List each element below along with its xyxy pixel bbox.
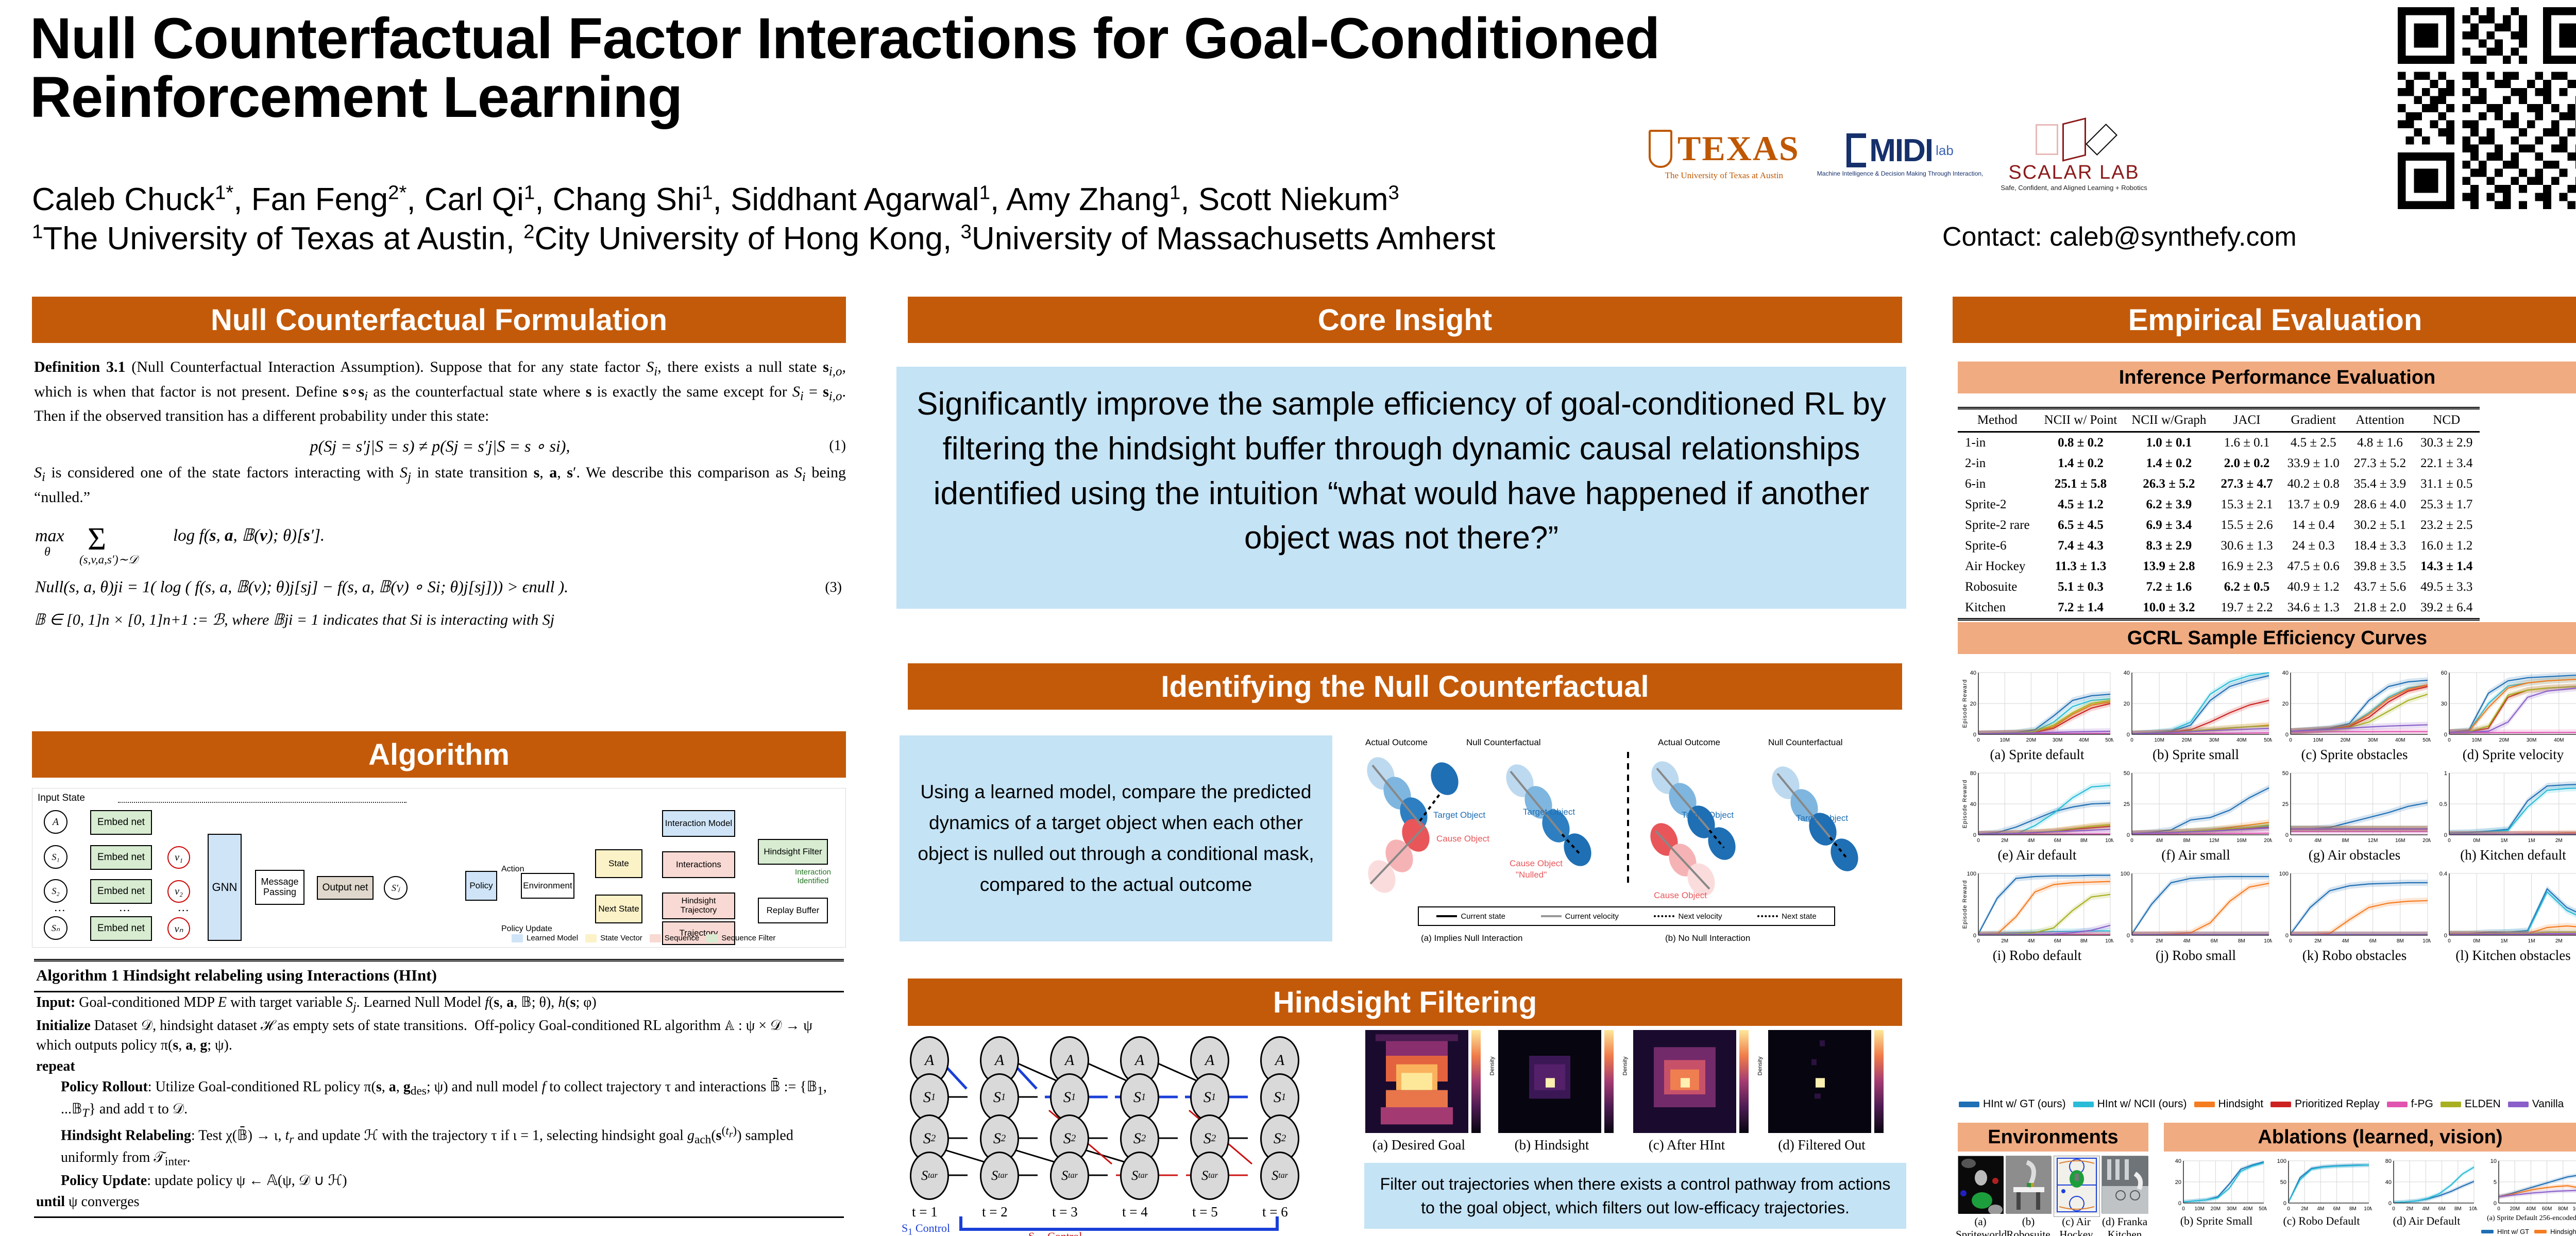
svg-text:40M: 40M [2554, 737, 2564, 743]
graph-node-Star-t2: Star [980, 1152, 1019, 1200]
thumb-franka-kitchen[interactable] [2102, 1156, 2148, 1213]
affiliation-list: 1The University of Texas at Austin, 2Cit… [32, 219, 1706, 259]
legend-current-state: Current state [1436, 912, 1505, 921]
definition-text: Definition 3.1 (Null Counterfactual Inte… [34, 356, 846, 427]
ablation-legend-item-1: Hindsight [2534, 1228, 2576, 1235]
svg-text:2M: 2M [2156, 938, 2163, 944]
definition-text-after-eq1: Si is considered one of the state factor… [34, 462, 846, 508]
gcrl-legend-item-3: Prioritized Replay [2270, 1098, 2380, 1110]
policy-update-label: Policy Update [501, 924, 552, 934]
svg-text:10M: 10M [2364, 1206, 2372, 1212]
svg-text:20: 20 [2282, 701, 2289, 707]
svg-text:0: 0 [2285, 933, 2289, 939]
gcrl-panel-8[interactable]: 00.5100M1M1M2M3M(h) Kitchen default [2437, 769, 2576, 849]
plot-svg: 0255004M8M12M16M20M [2120, 769, 2272, 846]
ablation-panel-4[interactable]: 0510020M40M60M80M100M(a) Sprite Default … [2481, 1157, 2576, 1217]
plot-svg: 02040010M20M30M40M50MEpisode Reward [1961, 668, 2113, 746]
gcrl-panel-4[interactable]: 03060010M20M30M40M50M(d) Sprite velocity [2437, 668, 2576, 748]
next-state-box: Next State [595, 895, 642, 923]
table-cell: 5.1 ± 0.3 [2037, 577, 2125, 597]
plot-svg: 0408002M4M6M8M10M [2376, 1157, 2477, 1214]
table-cell: 30.2 ± 5.1 [2347, 515, 2413, 536]
svg-text:40M: 40M [2395, 737, 2405, 743]
gcrl-panel-5[interactable]: 0408002M4M6M8M10MEpisode Reward(e) Air d… [1961, 769, 2113, 849]
svg-text:0: 0 [2130, 838, 2133, 844]
midi-lab-text: lab [1936, 143, 1954, 159]
table-row: Sprite-2 rare6.5 ± 4.56.9 ± 3.415.5 ± 2.… [1958, 515, 2480, 536]
svg-text:2M: 2M [2001, 838, 2008, 844]
svg-text:4M: 4M [2314, 838, 2321, 844]
svg-text:100: 100 [2121, 871, 2130, 877]
star-control-label: Star Control [1028, 1230, 1082, 1236]
legend-next-velocity: Next velocity [1654, 912, 1722, 921]
table-cell: 14.3 ± 1.4 [2413, 556, 2480, 577]
svg-text:1M: 1M [2528, 938, 2535, 944]
svg-text:0: 0 [2388, 1200, 2392, 1207]
svg-text:100: 100 [1967, 871, 1976, 877]
hindsight-trajectory-box: Hindsight Trajectory [662, 892, 735, 919]
plot-svg: 02040010M20M30M40M50M [2120, 668, 2272, 746]
legend-state-vector: State Vector [585, 934, 642, 942]
svg-text:4M: 4M [2183, 938, 2190, 944]
node-A: A [44, 810, 67, 834]
replay-buffer-box: Replay Buffer [758, 898, 828, 923]
svg-text:40M: 40M [2526, 1206, 2536, 1212]
embed-net-4: Embed net [90, 916, 152, 941]
svg-text:6M: 6M [2438, 1206, 2446, 1212]
gcrl-panel-9[interactable]: 010002M4M6M8M10MEpisode Reward(i) Robo d… [1961, 869, 2113, 949]
table-cell: 13.7 ± 0.9 [2280, 494, 2347, 515]
svg-text:0: 0 [2444, 933, 2447, 939]
svg-text:0: 0 [2497, 1206, 2500, 1212]
svg-text:60M: 60M [2542, 1206, 2552, 1212]
svg-text:6M: 6M [2211, 938, 2218, 944]
subsection-environments: Environments [1958, 1123, 2148, 1152]
svg-text:Cause Object: Cause Object [1510, 859, 1563, 868]
output-net-box: Output net [317, 876, 374, 900]
table-cell: 26.3 ± 5.2 [2124, 474, 2213, 494]
heatmap-filtered-out[interactable] [1768, 1030, 1871, 1133]
graph-node-Star-t6: Star [1260, 1152, 1299, 1200]
architecture-diagram: Input State A Embed net S₁ Embed net v₁ … [32, 788, 846, 948]
ablation-panel-caption: (c) Robo Default [2271, 1214, 2372, 1228]
plot-svg: 010002M4M6M8M10MEpisode Reward [1961, 869, 2113, 947]
gcrl-panel-12[interactable]: 00.400M1M1M2M3M(l) Kitchen obstacles [2437, 869, 2576, 949]
svg-text:0: 0 [1973, 732, 1976, 738]
svg-text:10M: 10M [2469, 1206, 2477, 1212]
table-cell: 1-in [1958, 432, 2037, 454]
gcrl-legend-item-5: ELDEN [2441, 1098, 2501, 1110]
svg-text:30M: 30M [2368, 737, 2378, 743]
ablation-legend-item-0: HInt w/ GT [2481, 1228, 2529, 1235]
svg-text:Cause Object: Cause Object [1436, 834, 1489, 844]
table-row: 6-in25.1 ± 5.826.3 ± 5.227.3 ± 4.740.2 ±… [1958, 474, 2480, 494]
equation-2-subscript-sum: (s,v,a,s′)∼𝒟 [79, 552, 138, 569]
environment-box: Environment [521, 873, 574, 899]
gcrl-legend-item-0: HInt w/ GT (ours) [1959, 1098, 2066, 1110]
svg-text:8M: 8M [2397, 938, 2404, 944]
scalar-sublabel: Safe, Confident, and Aligned Learning + … [2001, 184, 2147, 192]
svg-text:0: 0 [2289, 737, 2292, 743]
svg-text:0: 0 [2289, 938, 2292, 944]
contact-line: Contact: caleb@synthefy.com [1942, 221, 2297, 252]
svg-text:2M: 2M [2555, 938, 2563, 944]
timestep-1: t = 1 [912, 1204, 938, 1220]
table-cell: 25.1 ± 5.8 [2037, 474, 2125, 494]
texas-sublabel: The University of Texas at Austin [1665, 170, 1783, 181]
svg-text:2M: 2M [2301, 1206, 2308, 1212]
table-header-1: NCII w/ Point [2037, 408, 2125, 432]
table-row: Sprite-24.5 ± 1.26.2 ± 3.915.3 ± 2.113.7… [1958, 494, 2480, 515]
svg-text:20: 20 [1970, 701, 1976, 707]
table-cell: 11.3 ± 1.3 [2037, 556, 2125, 577]
midi-sublabel: Machine Intelligence & Decision Making T… [1817, 170, 1984, 177]
diag-label-null-2: Null Counterfactual [1768, 737, 1843, 748]
plot-svg: 010002M4M6M8M10M [2120, 869, 2272, 947]
table-cell: 39.8 ± 3.5 [2347, 556, 2413, 577]
table-cell: 30.6 ± 1.3 [2213, 536, 2280, 556]
table-cell: 16.9 ± 2.3 [2213, 556, 2280, 577]
table-cell: Sprite-2 rare [1958, 515, 2037, 536]
heatmap-hindsight[interactable] [1498, 1030, 1601, 1133]
legend-current-velocity: Current velocity [1541, 912, 1619, 921]
node-S1: S₁ [44, 845, 67, 869]
svg-text:40: 40 [1970, 801, 1976, 808]
table-cell: 39.2 ± 6.4 [2413, 597, 2480, 620]
svg-text:0: 0 [2130, 737, 2133, 743]
svg-text:0M: 0M [2473, 938, 2480, 944]
gcrl-panel-7[interactable]: 0255004M8M12M16M20M(g) Air obstacles [2278, 769, 2431, 849]
svg-text:"Nulled": "Nulled" [1516, 870, 1547, 880]
svg-text:80: 80 [1970, 770, 1976, 777]
table-header-6: NCD [2413, 408, 2480, 432]
svg-text:1M: 1M [2500, 938, 2507, 944]
svg-text:50M: 50M [2422, 737, 2431, 743]
plot-svg: 00.400M1M1M2M3M [2437, 869, 2576, 947]
svg-text:4M: 4M [2422, 1206, 2429, 1212]
svg-text:Target Object: Target Object [1433, 810, 1485, 820]
svg-text:0: 0 [2448, 838, 2451, 844]
svg-text:0: 0 [2392, 1206, 2395, 1212]
gcrl-panel-10[interactable]: 010002M4M6M8M10M(j) Robo small [2120, 869, 2272, 949]
graph-node-Star-t5: Star [1190, 1152, 1229, 1200]
table-cell: Kitchen [1958, 597, 2037, 620]
svg-text:25: 25 [2124, 801, 2130, 808]
table-cell: Robosuite [1958, 577, 2037, 597]
svg-text:4M: 4M [2317, 1206, 2324, 1212]
svg-text:50: 50 [2280, 1179, 2286, 1186]
table-cell: 27.3 ± 5.2 [2347, 453, 2413, 474]
table-cell: 6.2 ± 0.5 [2213, 577, 2280, 597]
svg-text:6M: 6M [2369, 938, 2377, 944]
ablation-panel-3[interactable]: 0408002M4M6M8M10M(d) Air Default [2376, 1157, 2477, 1217]
table-cell: Sprite-6 [1958, 536, 2037, 556]
output-node-Sj: S′ⱼ [384, 876, 408, 900]
svg-text:100: 100 [2279, 871, 2289, 877]
table-row: 1-in0.8 ± 0.21.0 ± 0.11.6 ± 0.14.5 ± 2.5… [1958, 432, 2480, 454]
hindsight-heatmaps: Density Density Density [1365, 1030, 1905, 1159]
table-cell: 16.0 ± 1.2 [2413, 536, 2480, 556]
svg-text:30M: 30M [2527, 737, 2536, 743]
gcrl-panel-6[interactable]: 0255004M8M12M16M20M(f) Air small [2120, 769, 2272, 849]
svg-text:50M: 50M [2259, 1206, 2267, 1212]
alg-line-initialize: Initialize Dataset 𝒟, hindsight dataset … [34, 1016, 844, 1056]
svg-text:0: 0 [2448, 737, 2451, 743]
svg-text:40: 40 [2282, 670, 2289, 676]
table-cell: 15.3 ± 2.1 [2213, 494, 2280, 515]
svg-text:0: 0 [1977, 938, 1980, 944]
svg-text:25: 25 [2282, 801, 2289, 808]
table-header-3: JACI [2213, 408, 2280, 432]
table-cell: 6.5 ± 4.5 [2037, 515, 2125, 536]
gcrl-panel-caption: (c) Sprite obstacles [2278, 747, 2431, 763]
svg-text:Episode Reward: Episode Reward [1962, 880, 1968, 929]
svg-text:30M: 30M [2209, 737, 2219, 743]
equation-3-number: (3) [825, 577, 842, 598]
svg-text:4M: 4M [2027, 938, 2035, 944]
svg-text:20M: 20M [2341, 737, 2350, 743]
env-caption-spriteworld: (a) Spriteworld [1956, 1215, 2005, 1236]
svg-text:20M: 20M [2026, 737, 2036, 743]
table-cell: 7.2 ± 1.4 [2037, 597, 2125, 620]
table-cell: 8.3 ± 2.9 [2124, 536, 2213, 556]
svg-text:0: 0 [1973, 933, 1976, 939]
input-state-label: Input State [38, 793, 85, 804]
caption-implies-null: (a) Implies Null Interaction [1421, 933, 1522, 943]
gcrl-panel-caption: (a) Sprite default [1961, 747, 2113, 763]
plot-svg: 05010002M4M6M8M10M [2271, 1157, 2372, 1214]
message-passing-box: Message Passing [255, 870, 304, 905]
table-cell: 28.6 ± 4.0 [2347, 494, 2413, 515]
equation-1-number: (1) [829, 436, 846, 456]
thumb-spriteworld[interactable] [1958, 1156, 2003, 1213]
svg-text:0: 0 [2444, 732, 2447, 738]
thumb-robosuite[interactable] [2006, 1156, 2051, 1213]
scalar-shapes-icon [2036, 117, 2113, 162]
table-row: 2-in1.4 ± 0.21.4 ± 0.22.0 ± 0.233.9 ± 1.… [1958, 453, 2480, 474]
table-header-4: Gradient [2280, 408, 2347, 432]
gcrl-panel-caption: (g) Air obstacles [2278, 847, 2431, 863]
svg-text:4M: 4M [2342, 938, 2349, 944]
poster-header: Null Counterfactual Factor Interactions … [0, 0, 2576, 268]
gcrl-panel-2[interactable]: 02040010M20M30M40M50M(b) Sprite small [2120, 668, 2272, 748]
arch-legend: Learned Model State Vector Sequence Sequ… [512, 934, 775, 942]
subsection-ablations: Ablations (learned, vision) [2164, 1123, 2576, 1152]
section-header-empirical: Empirical Evaluation [1953, 297, 2576, 343]
table-cell: 49.5 ± 3.3 [2413, 577, 2480, 597]
gcrl-panel-11[interactable]: 010002M4M6M8M10M(k) Robo obstacles [2278, 869, 2431, 949]
svg-text:6M: 6M [2333, 1206, 2341, 1212]
table-cell: 23.2 ± 2.5 [2413, 515, 2480, 536]
legend-learned-model: Learned Model [512, 934, 578, 942]
svg-text:0M: 0M [2473, 838, 2480, 844]
svg-text:0: 0 [2130, 938, 2133, 944]
alg-line-input: Input: Goal-conditioned MDP E with targe… [34, 992, 844, 1016]
svg-text:Cause Object: Cause Object [1654, 890, 1707, 900]
gcrl-legend-label: Hindsight [2218, 1098, 2264, 1110]
svg-text:10M: 10M [2194, 1206, 2204, 1212]
embed-net-2: Embed net [90, 845, 152, 870]
table-cell: 14 ± 0.4 [2280, 515, 2347, 536]
heatmap-desired-goal[interactable] [1365, 1030, 1468, 1133]
svg-text:0.5: 0.5 [2439, 801, 2447, 808]
gcrl-legend-label: Prioritized Replay [2295, 1098, 2380, 1110]
interactions-box: Interactions [662, 851, 735, 878]
svg-text:0: 0 [2285, 732, 2289, 738]
ellipsis-1: ⋮ [53, 905, 66, 918]
svg-text:8M: 8M [2454, 1206, 2462, 1212]
colorbar-1 [1471, 1030, 1481, 1133]
svg-text:8M: 8M [2183, 838, 2190, 844]
legend-next-state: Next state [1757, 912, 1817, 921]
table-cell: 18.4 ± 3.3 [2347, 536, 2413, 556]
svg-text:8M: 8M [2349, 1206, 2357, 1212]
table-cell: 0.8 ± 0.2 [2037, 432, 2125, 454]
equation-3-row: Null(s, a, θ)ji = 1( log ( f(s, a, 𝔹(v);… [34, 575, 846, 607]
thumb-air-hockey[interactable] [2054, 1156, 2100, 1217]
table-cell: 4.5 ± 2.5 [2280, 432, 2347, 454]
poster-root: Null Counterfactual Factor Interactions … [0, 0, 2576, 1236]
gcrl-panel-1[interactable]: 02040010M20M30M40M50MEpisode Reward(a) S… [1961, 668, 2113, 748]
gcrl-legend-item-6: Vanilla [2508, 1098, 2564, 1110]
svg-text:50M: 50M [2264, 737, 2272, 743]
gcrl-panel-caption: (d) Sprite velocity [2437, 747, 2576, 763]
plot-svg: 02040010M20M30M40M50M [2166, 1157, 2267, 1214]
algorithm-title: Algorithm 1 Hindsight relabeling using I… [34, 962, 844, 991]
author-block: Caleb Chuck1*, Fan Feng2*, Carl Qi1, Cha… [32, 180, 1706, 258]
table-cell: 15.5 ± 2.6 [2213, 515, 2280, 536]
heatmap-after-hint[interactable] [1633, 1030, 1736, 1133]
node-Sn: Sₙ [44, 916, 67, 940]
v2-node: v₂ [167, 880, 190, 903]
equation-3-note: 𝔹 ∈ [0, 1]n × [0, 1]n+1 := ℬ, where 𝔹ji … [34, 609, 846, 631]
svg-text:2M: 2M [2555, 838, 2563, 844]
plot-svg: 02040010M20M30M40M50M [2278, 668, 2431, 746]
table-cell: 24 ± 0.3 [2280, 536, 2347, 556]
qr-code-icon[interactable] [2396, 7, 2576, 209]
svg-text:80: 80 [2385, 1158, 2392, 1164]
null-counterfactual-diagram: Actual Outcome Null Counterfactual Actua… [1350, 735, 1901, 952]
svg-text:6M: 6M [2054, 838, 2061, 844]
svg-text:8M: 8M [2080, 938, 2088, 944]
svg-text:8M: 8M [2342, 838, 2349, 844]
svg-text:0: 0 [2448, 938, 2451, 944]
equation-3: Null(s, a, θ)ji = 1( log ( f(s, a, 𝔹(v);… [35, 575, 568, 598]
density-label-1: Density [1489, 1057, 1495, 1076]
table-cell: 7.2 ± 1.6 [2124, 577, 2213, 597]
table-row: Kitchen7.2 ± 1.410.0 ± 3.219.7 ± 2.234.6… [1958, 597, 2480, 620]
gcrl-legend-item-1: HInt w/ NCII (ours) [2073, 1098, 2187, 1110]
equation-1-row: p(Sj = s′j|S = s) ≠ p(Sj = s′j|S = s ∘ s… [34, 435, 846, 458]
table-cell: 43.7 ± 5.6 [2347, 577, 2413, 597]
table-cell: 6-in [1958, 474, 2037, 494]
midi-bracket-icon [1846, 133, 1866, 167]
table-cell: 30.3 ± 2.9 [2413, 432, 2480, 454]
texas-wordmark: TEXAS [1677, 128, 1800, 169]
midi-wordmark: MIDI [1869, 132, 1933, 169]
svg-text:0.4: 0.4 [2439, 871, 2447, 877]
equation-1: p(Sj = s′j|S = s) ≠ p(Sj = s′j|S = s ∘ s… [310, 435, 570, 458]
svg-text:40: 40 [2385, 1179, 2392, 1186]
table-row: Air Hockey11.3 ± 1.313.9 ± 2.816.9 ± 2.3… [1958, 556, 2480, 577]
table-cell: 7.4 ± 4.3 [2037, 536, 2125, 556]
svg-text:16M: 16M [2236, 838, 2246, 844]
ablation-legend-row: HInt w/ GTHindsightVanilla [2481, 1228, 2576, 1235]
svg-text:8M: 8M [2238, 938, 2245, 944]
svg-text:1M: 1M [2528, 838, 2535, 844]
table-header-0: Method [1958, 408, 2037, 432]
table-cell: 31.1 ± 0.5 [2413, 474, 2480, 494]
gcrl-panel-caption: (l) Kitchen obstacles [2437, 948, 2576, 964]
subsection-inference-performance: Inference Performance Evaluation [1958, 362, 2576, 393]
table-cell: 1.4 ± 0.2 [2124, 453, 2213, 474]
equation-2-row: max θ Σ (s,v,a,s′)∼𝒟 log f(s, a, 𝔹(v); θ… [34, 516, 846, 575]
ablation-plot-grid: 02040010M20M30M40M50M(b) Sprite Small050… [2164, 1156, 2576, 1233]
svg-text:20M: 20M [2499, 737, 2509, 743]
svg-text:10M: 10M [2105, 838, 2113, 844]
gcrl-legend-row: HInt w/ GT (ours)HInt w/ NCII (ours)Hind… [1959, 1098, 2576, 1110]
svg-text:20M: 20M [2182, 737, 2192, 743]
section-header-algorithm: Algorithm [32, 731, 846, 778]
svg-text:50: 50 [2124, 770, 2130, 777]
gcrl-panel-3[interactable]: 02040010M20M30M40M50M(c) Sprite obstacle… [2278, 668, 2431, 748]
ablation-legend-label: Hindsight [2550, 1228, 2576, 1235]
table-header-5: Attention [2347, 408, 2413, 432]
embed-net-3: Embed net [90, 879, 152, 904]
counterfactual-svg: Target Object Cause Object Target Object… [1350, 749, 1901, 903]
table-header-2: NCII w/Graph [2124, 408, 2213, 432]
svg-text:0: 0 [2127, 933, 2130, 939]
svg-text:50M: 50M [2105, 737, 2113, 743]
table-row: Sprite-67.4 ± 4.38.3 ± 2.930.6 ± 1.324 ±… [1958, 536, 2480, 556]
s1-control-label: S1 Control [902, 1222, 950, 1236]
texas-shield-icon [1649, 130, 1672, 168]
svg-text:10M: 10M [2105, 938, 2113, 944]
core-insight-text: Significantly improve the sample efficie… [896, 367, 1906, 609]
ablation-panel-1[interactable]: 02040010M20M30M40M50M(b) Sprite Small [2166, 1157, 2267, 1217]
svg-text:2M: 2M [2406, 1206, 2413, 1212]
svg-text:4M: 4M [2156, 838, 2163, 844]
svg-text:40: 40 [1970, 670, 1976, 676]
inference-performance-table: MethodNCII w/ PointNCII w/GraphJACIGradi… [1958, 407, 2576, 621]
table-cell: 25.3 ± 1.7 [2413, 494, 2480, 515]
ablation-panel-2[interactable]: 05010002M4M6M8M10M(c) Robo Default [2271, 1157, 2372, 1217]
page-title: Null Counterfactual Factor Interactions … [30, 9, 1704, 127]
svg-text:5: 5 [2494, 1179, 2497, 1186]
scalar-lab-logo: SCALAR LAB Safe, Confident, and Aligned … [2001, 117, 2147, 192]
heatmap-caption-d: (d) Filtered Out [1775, 1137, 1868, 1153]
svg-text:10M: 10M [2264, 938, 2272, 944]
svg-text:40M: 40M [2079, 737, 2089, 743]
plot-svg: 0255004M8M12M16M20M [2278, 769, 2431, 846]
svg-text:30M: 30M [2227, 1206, 2236, 1212]
svg-text:10M: 10M [2154, 737, 2164, 743]
graph-node-Star-t3: Star [1050, 1152, 1089, 1200]
svg-text:Episode Reward: Episode Reward [1962, 780, 1968, 829]
gcrl-legend-item-4: f-PG [2387, 1098, 2433, 1110]
svg-text:100M: 100M [2572, 1206, 2576, 1212]
env-caption-robosuite: (b) Robosuite [2004, 1215, 2053, 1236]
svg-text:20M: 20M [2510, 1206, 2519, 1212]
embed-net-1: Embed net [90, 810, 152, 835]
hindsight-filter-box: Hindsight Filter [758, 839, 828, 865]
table-cell: 47.5 ± 0.6 [2280, 556, 2347, 577]
policy-box: Policy [465, 871, 497, 901]
counterfactual-legend: Current state Current velocity Next velo… [1418, 906, 1835, 926]
v1-node: v₁ [167, 846, 190, 869]
svg-text:40: 40 [2175, 1158, 2181, 1164]
svg-text:4M: 4M [2027, 838, 2035, 844]
